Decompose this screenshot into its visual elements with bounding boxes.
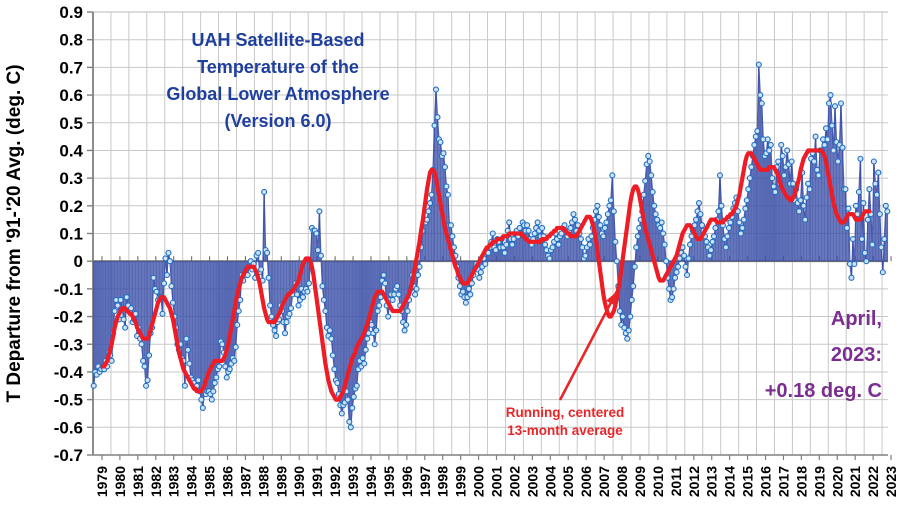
x-tick-label: 2018 [793,466,809,497]
chart-canvas: 0.90.80.70.60.50.40.30.20.10-0.1-0.2-0.3… [0,0,903,522]
x-tick-label: 1984 [184,466,200,497]
y-tick-label: -0.1 [54,280,83,299]
x-tick-label: 2016 [758,466,774,497]
x-tick-label: 1983 [166,466,182,497]
y-tick-label: -0.7 [54,446,83,465]
x-tick-label: 2001 [489,466,505,497]
x-tick-label: 2020 [829,466,845,497]
current-readout-line: +0.18 deg. C [765,380,882,402]
annotation-note-line: Running, centered [506,405,625,420]
x-tick-label: 1997 [417,466,433,497]
x-tick-label: 2021 [847,466,863,497]
x-tick-label: 2006 [578,466,594,497]
chart-title-line: UAH Satellite-Based [191,30,364,50]
y-tick-label: 0.7 [59,58,83,77]
x-tick-label: 2022 [865,466,881,497]
x-tick-label: 1996 [399,466,415,497]
x-tick-label: 1980 [112,466,128,497]
y-tick-label: 0.1 [59,225,83,244]
x-tick-label: 2005 [560,466,576,497]
x-tick-label: 2015 [740,466,756,497]
x-tick-label: 1985 [202,466,218,497]
x-tick-label: 1995 [381,466,397,497]
x-tick-label: 2009 [632,466,648,497]
y-tick-label: 0.4 [59,141,83,160]
y-tick-label: 0.3 [59,169,83,188]
x-tick-label: 1986 [220,466,236,497]
x-tick-label: 1981 [130,466,146,497]
x-tick-label: 2008 [614,466,630,497]
y-tick-label: -0.6 [54,418,83,437]
x-tick-label: 1979 [94,466,110,497]
y-axis-title: T Departure from '91-'20 Avg. (deg. C) [4,64,25,402]
x-tick-label: 2007 [596,466,612,497]
x-tick-label: 1982 [148,466,164,497]
current-readout-line: April, [831,308,882,330]
x-tick-label: 2017 [775,466,791,497]
x-tick-label: 2023 [883,466,899,497]
annotation-note-line: 13-month average [507,423,623,438]
x-tick-label: 2012 [686,466,702,497]
x-tick-label: 1987 [237,466,253,497]
x-tick-label: 2019 [811,466,827,497]
x-tick-label: 1994 [363,466,379,497]
chart-title-line: (Version 6.0) [224,111,331,131]
y-tick-label: -0.4 [54,363,84,382]
x-tick-label: 2014 [722,466,738,497]
y-tick-label: -0.5 [54,391,83,410]
y-tick-label: 0 [74,252,83,271]
x-tick-label: 2010 [650,466,666,497]
x-tick-label: 1990 [291,466,307,497]
x-tick-label: 1999 [453,466,469,497]
x-tick-label: 2000 [471,466,487,497]
y-axis-label: T Departure from '91-'20 Avg. (deg. C) [4,64,25,402]
x-tick-label: 1993 [345,466,361,497]
current-readout-line: 2023: [831,344,882,366]
chart-title-line: Temperature of the [197,57,359,77]
x-tick-label: 1989 [273,466,289,497]
y-tick-label: -0.2 [54,308,83,327]
x-tick-label: 2004 [542,466,558,497]
x-tick-label: 2013 [704,466,720,497]
y-tick-label: 0.5 [59,114,83,133]
y-tick-label: 0.9 [59,3,83,22]
chart-title-line: Global Lower Atmosphere [166,84,389,104]
y-tick-label: 0.6 [59,86,83,105]
y-tick-label: 0.8 [59,31,83,50]
x-tick-label: 2002 [506,466,522,497]
x-tick-label: 2003 [524,466,540,497]
x-axis-tick-labels: 1979198019811982198319841985198619871988… [94,466,899,497]
y-tick-label: -0.3 [54,335,83,354]
x-tick-label: 1992 [327,466,343,497]
x-tick-label: 1998 [435,466,451,497]
temperature-anomaly-chart: 0.90.80.70.60.50.40.30.20.10-0.1-0.2-0.3… [0,0,903,522]
y-tick-label: 0.2 [59,197,83,216]
x-tick-label: 2011 [668,466,684,497]
x-tick-label: 1991 [309,466,325,497]
x-tick-label: 1988 [255,466,271,497]
